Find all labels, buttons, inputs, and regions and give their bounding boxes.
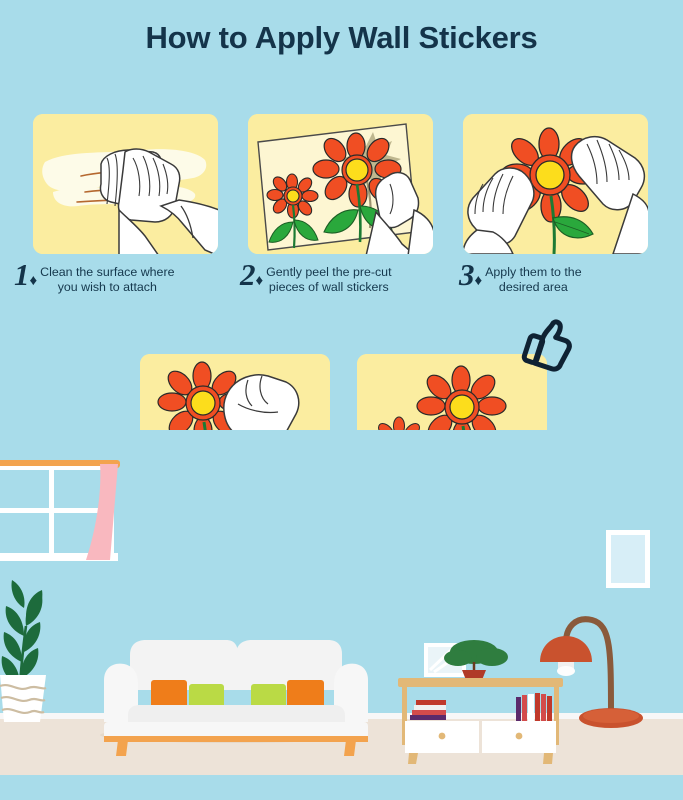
step-2-caption: 2♦ Gently peel the pre-cut pieces of wal… bbox=[240, 262, 455, 295]
step-1-caption: 1♦ Clean the surface where you wish to a… bbox=[14, 262, 229, 295]
step-2-number: 2♦ bbox=[240, 262, 263, 288]
step-1-illustration bbox=[33, 114, 218, 254]
step-3-caption-text: Apply them to the desired area bbox=[485, 262, 581, 295]
step-2-illustration bbox=[248, 114, 433, 254]
step-3-number: 3♦ bbox=[459, 262, 482, 288]
room-scene bbox=[0, 430, 683, 800]
step-3-caption: 3♦ Apply them to the desired area bbox=[459, 262, 659, 295]
infographic-root: How to Apply Wall Stickers bbox=[0, 0, 683, 800]
step-3-illustration bbox=[463, 114, 648, 254]
window bbox=[0, 460, 120, 561]
thumbs-up-icon bbox=[519, 317, 581, 373]
wall-frame-top-right bbox=[606, 530, 650, 588]
step-2-caption-text: Gently peel the pre-cut pieces of wall s… bbox=[266, 262, 391, 295]
page-title: How to Apply Wall Stickers bbox=[0, 20, 683, 56]
step-1-number: 1♦ bbox=[14, 262, 37, 288]
step-1-caption-text: Clean the surface where you wish to atta… bbox=[40, 262, 174, 295]
